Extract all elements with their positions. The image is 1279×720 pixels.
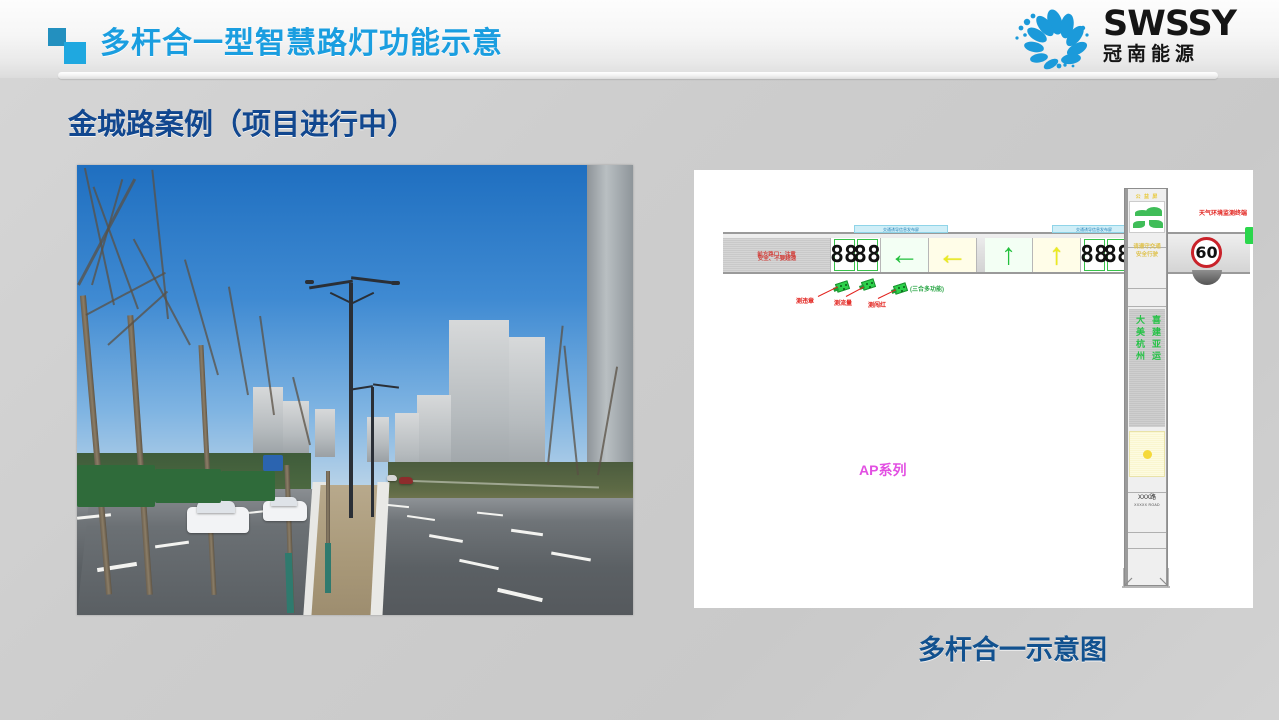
pole-segment [1128,275,1166,289]
camera-note: (三合多功能) [910,284,944,293]
street-light-lamp [305,280,314,284]
slide-canvas: 多杆合一型智慧路灯功能示意 [0,0,1279,720]
lane-arrow-3: ↑ [985,238,1033,272]
diagram-caption: 多杆合一示意图 [918,628,1107,667]
photo-road-sign [263,455,283,471]
pole-safety-text-1: 请遵守交通 [1129,243,1165,251]
led-message-line-2: 安全、不要超速 [737,256,817,263]
lane-arrow-1: ← [881,238,929,272]
pole-safety-text-2: 安全行驶 [1129,251,1165,259]
section-title: 金城路案例（项目进行中） [68,101,416,143]
hill-shape [1133,221,1145,228]
weather-sensor-label: 天气环境监测终端 [1199,208,1247,217]
road-name-plate: XXX路 XXXXX ROAD [1129,495,1165,509]
arrow-left-yellow-icon: ← [938,240,968,270]
pole-segment [1128,533,1166,549]
pole-segment [1128,479,1166,493]
camera-label-3: 测闯红 [868,300,886,309]
logo-wordmark: SWSSY [1103,6,1236,42]
photo-truck [155,469,221,503]
pole-warning-panel [1129,431,1165,477]
speed-limit-sign: 60 [1191,237,1222,268]
arrow-up-yellow-icon: ↑ [1049,240,1064,270]
led-message-board: 前方路口：注意 [723,238,831,272]
multi-pole-diagram: 前方路口：注意 安全、不要超速 88 88 ← ← ↑ [694,170,1253,608]
smart-pole: 公 益 屏 请遵守交通 安全行驶 大美杭州 喜建亚运 XXX路 [1124,188,1168,586]
camera-label-1: 测违章 [796,296,814,305]
hill-shape [1146,207,1162,216]
street-light-pole [371,387,374,517]
arrow-left-green-icon: ← [890,240,920,270]
screen-text-column-1: 大美杭州 [1133,315,1146,363]
photo-tree-trunk-paint [325,543,331,593]
camera-lens-dots [838,283,851,292]
photo-truck [77,465,155,507]
countdown-digits-right: 88 [1084,239,1105,271]
countdown-digits-left-2: 88 [857,239,878,271]
photo-building [509,337,545,480]
weather-sensor-icon [1245,227,1253,244]
countdown-display-left: 88 88 [831,238,881,272]
pole-segment [1128,289,1166,307]
lane-arrow-4: ↑ [1033,238,1081,272]
photo-building [253,387,283,457]
pole-landscape-panel [1129,201,1165,233]
water-droplet-burst-icon [1011,8,1095,70]
site-photo [77,165,633,615]
pole-top-banner: 公 益 屏 [1129,193,1165,200]
street-light-lamp [391,281,400,285]
dome-camera-icon [1192,270,1222,285]
road-name-main: XXX路 [1138,495,1156,501]
header-decor-square-2 [64,42,86,64]
company-logo: SWSSY 冠南能源 [1011,4,1261,74]
countdown-digits-left: 88 [834,239,855,271]
countdown-value-left-2: 88 [853,244,881,267]
photo-building [449,320,509,480]
photo-building [315,409,335,457]
warning-lamp-icon [1143,450,1152,459]
pole-led-screen: 大美杭州 喜建亚运 [1129,309,1165,427]
screen-text-column-2: 喜建亚运 [1149,315,1162,363]
camera-label-2: 测流量 [834,298,852,307]
photo-car-far [399,477,413,484]
ap-series-label: AP系列 [859,460,906,480]
street-light-pole [349,283,353,518]
logo-text-block: SWSSY 冠南能源 [1103,6,1236,67]
slide-header: 多杆合一型智慧路灯功能示意 [0,0,1279,78]
arrow-up-green-icon: ↑ [1001,240,1016,270]
anno-leader-3 [878,289,896,299]
camera-lens-dots [864,281,877,290]
photo-car-far [387,475,397,481]
guidance-screen-tab-left: 交通诱导信息发布屏 [854,225,948,233]
road-name-sub: XXXXX ROAD [1134,503,1160,507]
photo-tower-building [587,165,633,495]
anno-leader-1 [818,286,838,297]
page-title: 多杆合一型智慧路灯功能示意 [100,18,503,62]
lane-arrow-2: ← [929,238,977,272]
hill-shape [1149,220,1163,228]
logo-subtitle: 冠南能源 [1103,43,1236,67]
camera-lens-dots [896,285,909,294]
photo-truck [221,471,275,501]
pole-base [1122,568,1170,588]
pole-segment [1128,517,1166,533]
